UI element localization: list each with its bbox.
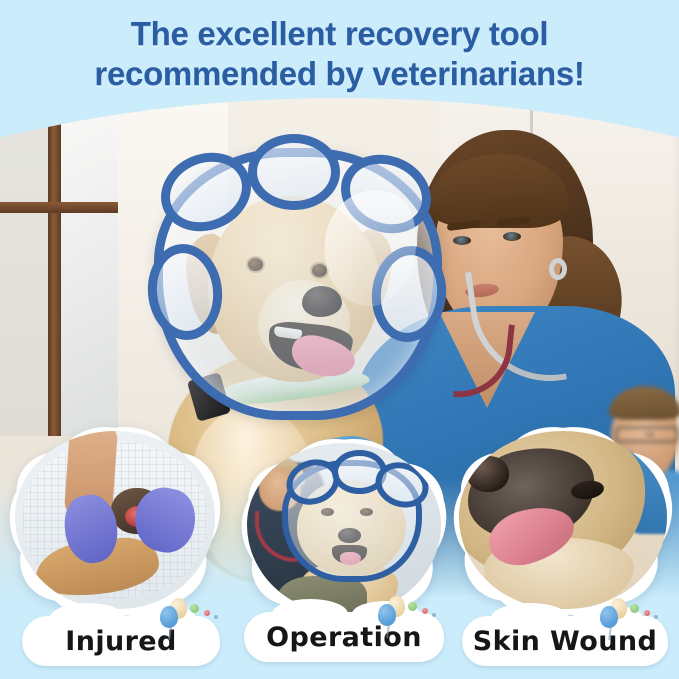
vet-eye-left — [453, 236, 471, 245]
recovery-cone — [154, 148, 442, 420]
cone-petal-2 — [248, 134, 340, 210]
vet-eye-right — [503, 232, 521, 241]
thumbnail-image-injured — [15, 431, 215, 609]
thumbnail-injured[interactable] — [8, 424, 222, 616]
confetti-dot-small — [654, 615, 658, 619]
window-frame-horizontal — [0, 202, 118, 213]
confetti-dot-small — [432, 613, 436, 617]
confetti-dot-green — [630, 604, 639, 613]
window-frame-vertical — [48, 106, 61, 436]
confetti-dot-red — [422, 608, 428, 614]
confetti-dot-green — [190, 604, 199, 613]
confetti-dot-red — [644, 610, 650, 616]
thumbnail-operation[interactable] — [240, 436, 448, 620]
confetti-dot-small — [214, 615, 218, 619]
clinic-window — [0, 106, 118, 436]
headline-line-2: recommended by veterinarians! — [0, 54, 679, 94]
headline-line-1: The excellent recovery tool — [131, 15, 548, 52]
product-marketing-image: { "theme": { "background_color": "#CBECF… — [0, 0, 679, 679]
thumbnail-skin-wound[interactable] — [452, 424, 674, 616]
balloon-decoration-1 — [152, 596, 222, 636]
balloon-decoration-2 — [370, 594, 440, 634]
balloon-decoration-3 — [592, 596, 662, 636]
balloon-blue-icon — [600, 606, 618, 628]
thumbnail-image-operation — [247, 443, 441, 613]
thumb3-dog-nose — [467, 456, 509, 492]
thumbnail-image-skin-wound — [459, 431, 667, 609]
page-title: The excellent recovery tool recommended … — [0, 14, 679, 93]
confetti-dot-green — [408, 602, 417, 611]
window-glass — [61, 106, 118, 436]
assistant-hair — [609, 386, 679, 420]
balloon-blue-icon — [378, 604, 396, 626]
balloon-blue-icon — [160, 606, 178, 628]
confetti-dot-red — [204, 610, 210, 616]
